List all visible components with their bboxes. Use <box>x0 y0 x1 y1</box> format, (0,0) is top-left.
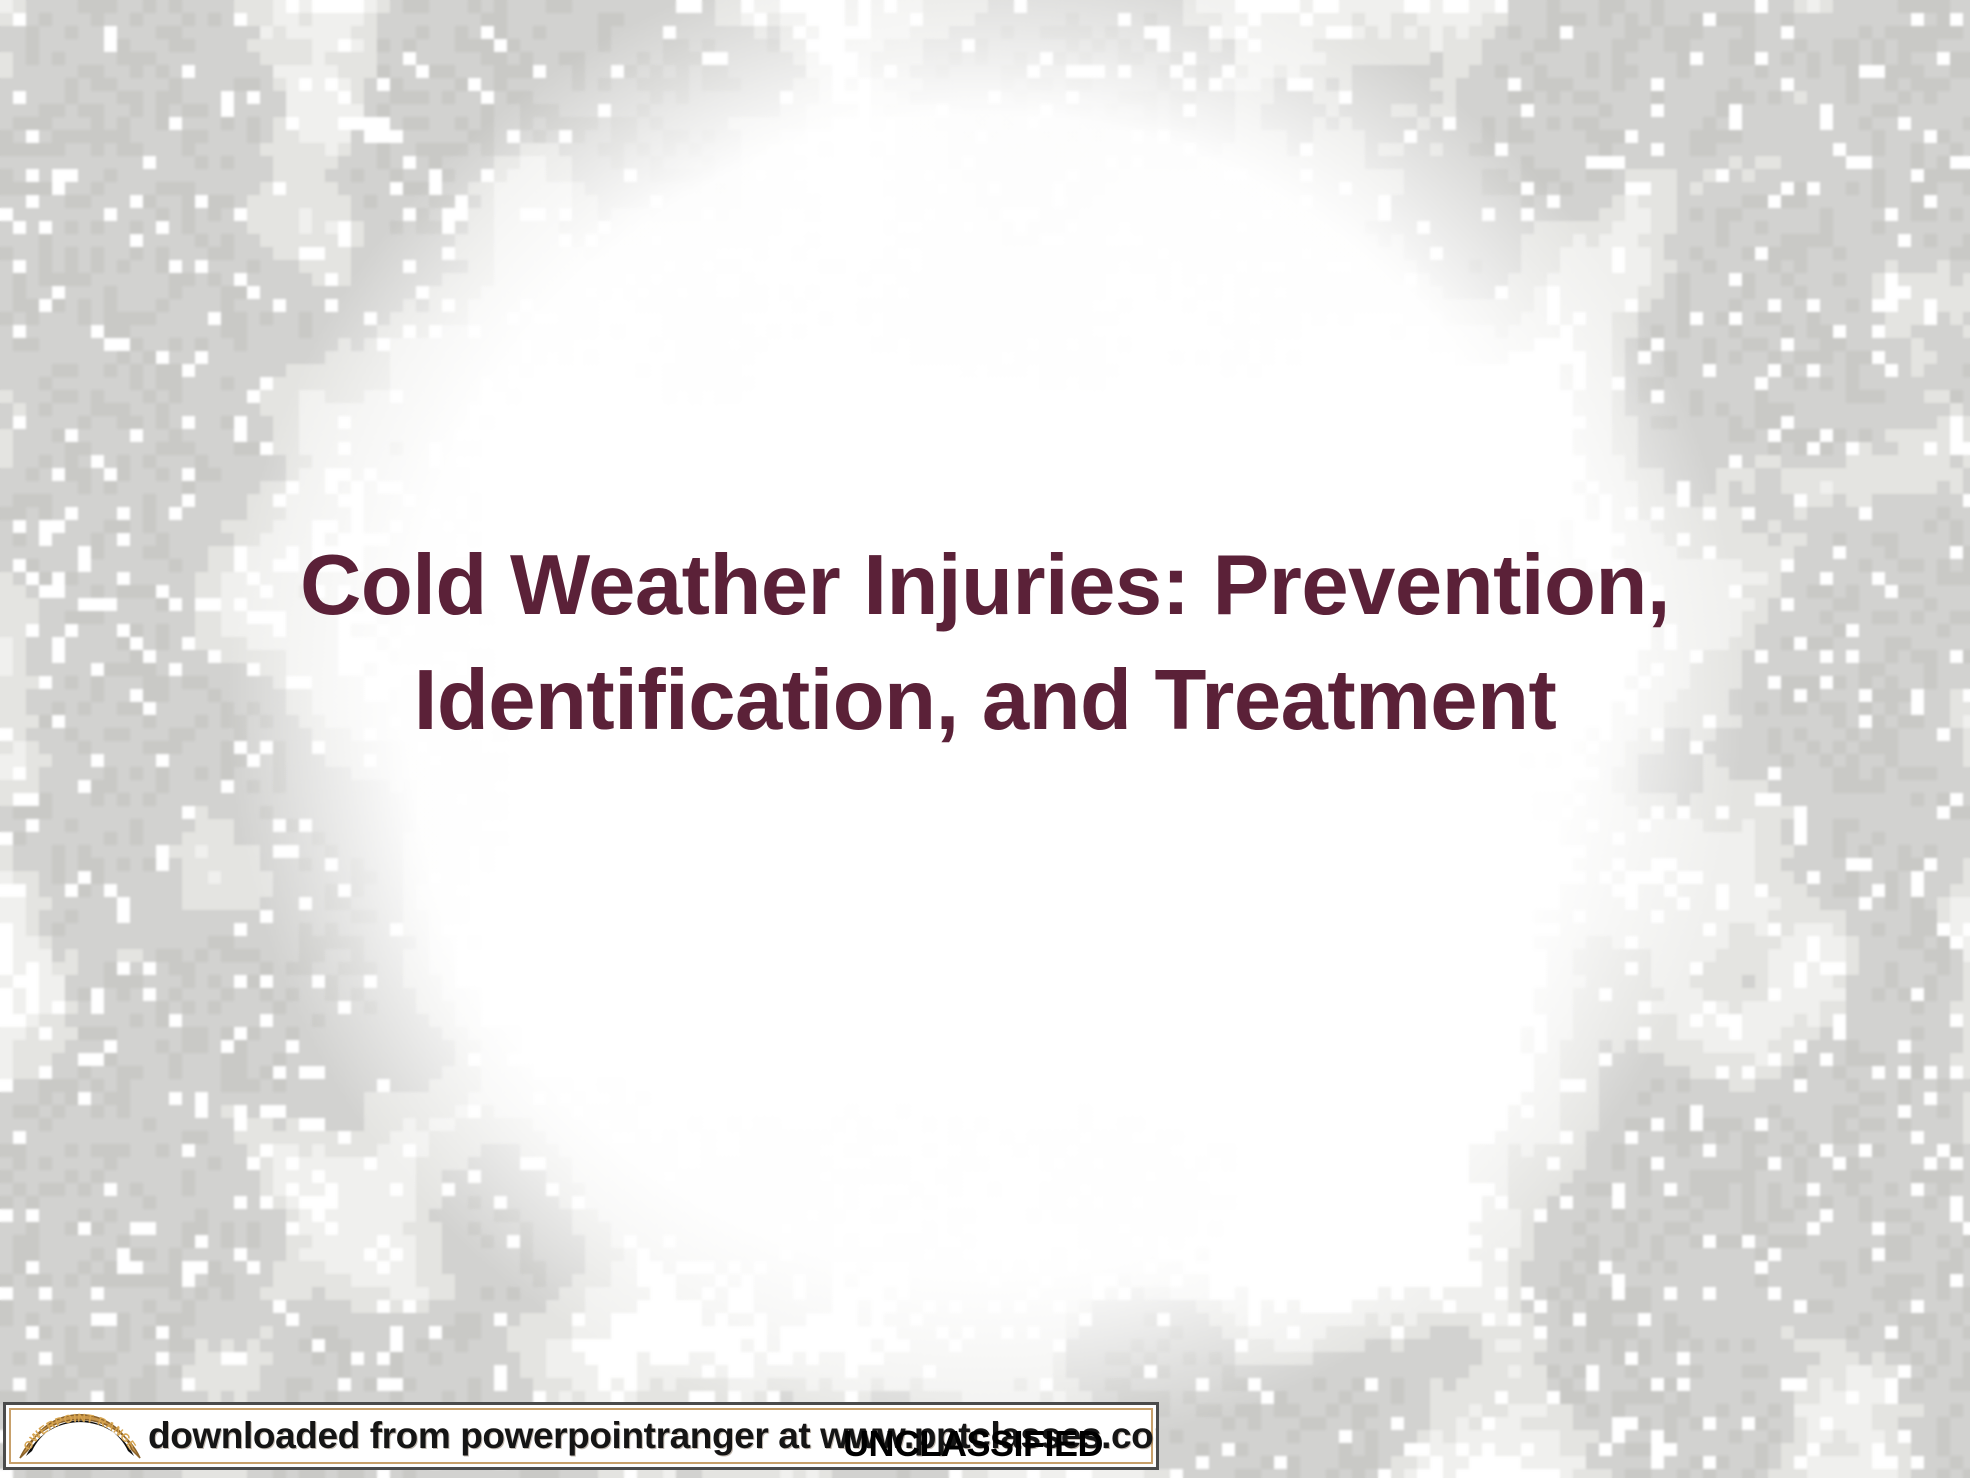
classification-marking: UNCLASSIFIED <box>843 1424 1103 1464</box>
title-line-2: Identification, and Treatment <box>100 643 1870 758</box>
slide-canvas: Cold Weather Injuries: Prevention, Ident… <box>0 0 1970 1478</box>
svg-text:POWERPOINT RANGER: POWERPOINT RANGER <box>14 1408 138 1453</box>
slide-title: Cold Weather Injuries: Prevention, Ident… <box>100 528 1870 758</box>
ranger-tab-label: POWERPOINT RANGER <box>14 1408 138 1453</box>
powerpoint-ranger-tab-icon: POWERPOINT RANGER <box>14 1408 146 1464</box>
title-line-1: Cold Weather Injuries: Prevention, <box>100 528 1870 643</box>
